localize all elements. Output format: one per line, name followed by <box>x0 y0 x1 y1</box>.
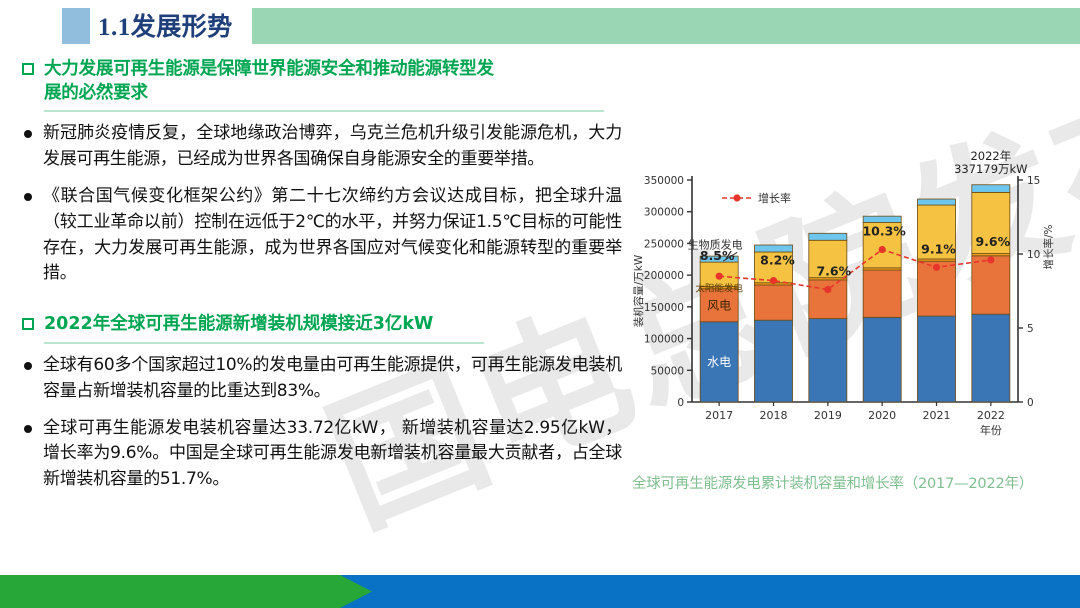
y2-tick-label: 15 <box>1027 175 1040 187</box>
header-blue-block <box>62 8 90 44</box>
bullet-text: 《联合国气候变化框架公约》第二十七次缔约方会议达成目标，把全球升温（较工业革命以… <box>43 184 622 287</box>
x-tick-label: 2020 <box>868 409 896 422</box>
bullet-text: 新冠肺炎疫情反复，全球地缘政治博弈，乌克兰危机升级引发能源危机，大力发展可再生能… <box>43 121 622 173</box>
growth-rate-label: 9.1% <box>921 241 956 256</box>
bullet-dot-icon <box>24 193 32 201</box>
square-bullet-icon <box>22 318 34 330</box>
bullet-item: 新冠肺炎疫情反复，全球地缘政治博弈，乌克兰危机升级引发能源危机，大力发展可再生能… <box>22 121 622 173</box>
growth-rate-marker <box>879 246 886 253</box>
bar-segment <box>863 216 901 222</box>
segment-label-hydro: 水电 <box>707 355 731 369</box>
y-tick-label: 150000 <box>644 302 684 314</box>
footer-green-chevron <box>0 575 372 608</box>
growth-rate-label: 8.2% <box>760 253 795 268</box>
growth-rate-marker <box>987 256 994 263</box>
section-title-1-line1: 大力发展可再生能源是保障世界能源安全和推动能源转型发 <box>44 59 494 79</box>
growth-rate-label: 7.6% <box>816 264 851 279</box>
bar-segment <box>809 319 847 402</box>
bar-segment <box>809 233 847 240</box>
chart-caption: 全球可再生能源发电累计装机容量和增长率（2017—2022年） <box>632 472 1080 493</box>
y-tick-label: 200000 <box>644 270 684 282</box>
bar-segment <box>863 270 901 317</box>
x-tick-label: 2019 <box>814 409 842 422</box>
y2-axis-title: 增长率/% <box>1042 224 1055 269</box>
bullet-item: 全球可再生能源发电装机容量达33.72亿kW， 新增装机容量达2.95亿kW， … <box>22 416 622 493</box>
bar-segment <box>754 245 792 252</box>
page-title: 1.1发展形势 <box>98 7 233 43</box>
growth-rate-label: 9.6% <box>975 234 1010 249</box>
growth-rate-marker <box>716 273 723 280</box>
section-heading-1: 大力发展可再生能源是保障世界能源安全和推动能源转型发 展的必然要求 <box>22 58 622 105</box>
growth-rate-label: 10.3% <box>862 224 906 239</box>
square-bullet-icon <box>22 63 34 75</box>
slide-footer <box>0 575 1080 608</box>
slide-header: 1.1发展形势 <box>0 8 1080 44</box>
y2-tick-label: 10 <box>1027 249 1040 261</box>
section-title-2: 2022年全球可再生能源新增装机规模接近3亿kW <box>44 313 433 337</box>
growth-rate-marker <box>770 277 777 284</box>
x-tick-label: 2022 <box>977 409 1005 422</box>
annotation-line2: 337179万kW <box>954 162 1027 176</box>
y-tick-label: 0 <box>677 397 684 409</box>
y-tick-label: 350000 <box>644 175 684 187</box>
section-title-1-line2: 展的必然要求 <box>44 83 148 103</box>
y2-tick-label: 0 <box>1027 397 1034 409</box>
growth-rate-marker <box>824 286 831 293</box>
bullet-dot-icon <box>24 362 32 370</box>
segment-label-wind: 风电 <box>707 298 731 312</box>
y-tick-label: 50000 <box>651 365 684 377</box>
bar-segment <box>863 317 901 402</box>
x-tick-label: 2017 <box>705 409 733 422</box>
bullet-text: 全球有60多个国家超过10%的发电量由可再生能源提供，可再生能源发电装机容量占新… <box>43 353 622 405</box>
x-tick-label: 2018 <box>760 409 788 422</box>
bar-segment <box>754 320 792 402</box>
stacked-bar-chart: 0500001000001500002000002500003000003500… <box>626 150 1074 450</box>
growth-rate-marker <box>933 264 940 271</box>
bullet-dot-icon <box>24 130 32 138</box>
section-title-1: 大力发展可再生能源是保障世界能源安全和推动能源转型发 展的必然要求 <box>44 58 494 105</box>
legend-marker <box>733 194 740 201</box>
x-tick-label: 2021 <box>923 409 951 422</box>
bar-segment <box>809 280 847 319</box>
y-axis-title: 装机容量/万kW <box>632 254 645 327</box>
bullet-item: 《联合国气候变化框架公约》第二十七次缔约方会议达成目标，把全球升温（较工业革命以… <box>22 184 622 287</box>
bullet-text: 全球可再生能源发电装机容量达33.72亿kW， 新增装机容量达2.95亿kW， … <box>43 416 622 493</box>
header-green-bar <box>252 8 1080 44</box>
bar-segment <box>972 314 1010 402</box>
bullet-dot-icon <box>24 425 32 433</box>
bar-segment <box>972 256 1010 314</box>
legend-label: 增长率 <box>758 191 791 205</box>
segment-label-solar: 太阳能发电 <box>695 283 743 295</box>
y-tick-label: 300000 <box>644 207 684 219</box>
y-tick-label: 100000 <box>644 334 684 346</box>
chart-figure: 0500001000001500002000002500003000003500… <box>626 150 1074 450</box>
section-rule-2 <box>44 342 484 344</box>
segment-label-biomass: 生物质发电 <box>688 237 743 251</box>
bar-segment <box>917 199 955 205</box>
y2-tick-label: 5 <box>1027 323 1034 335</box>
bar-segment <box>972 185 1010 193</box>
section-heading-2: 2022年全球可再生能源新增装机规模接近3亿kW <box>22 313 622 337</box>
slide: 国电总院发布 1.1发展形势 大力发展可再生能源是保障世界能源安全和推动能源转型… <box>0 0 1080 608</box>
bar-segment <box>917 316 955 402</box>
section-rule-1 <box>44 110 604 112</box>
x-axis-title: 年份 <box>980 423 1002 437</box>
y-tick-label: 250000 <box>644 238 684 250</box>
bar-segment <box>754 285 792 320</box>
bullet-item: 全球有60多个国家超过10%的发电量由可再生能源提供，可再生能源发电装机容量占新… <box>22 353 622 405</box>
content-column: 大力发展可再生能源是保障世界能源安全和推动能源转型发 展的必然要求 新冠肺炎疫情… <box>22 58 622 504</box>
